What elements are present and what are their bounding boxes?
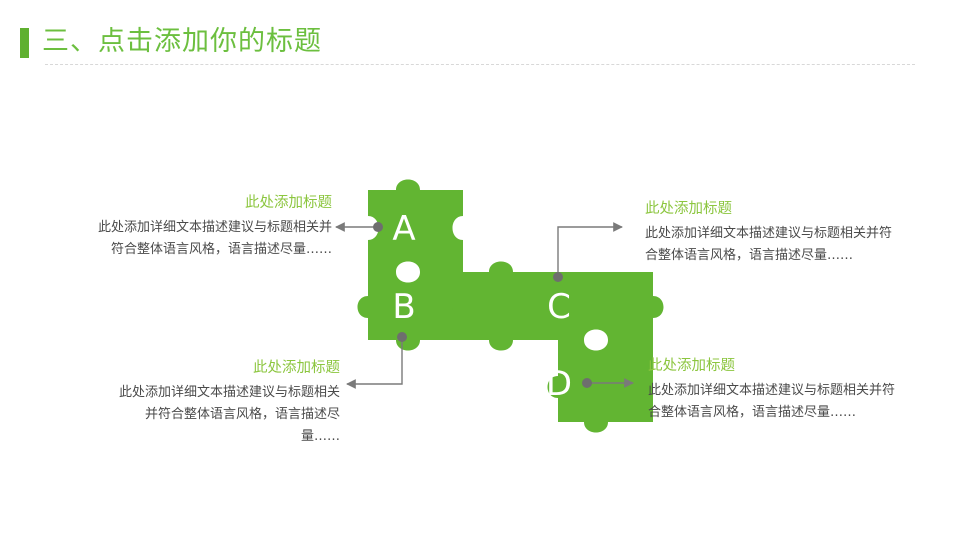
connector-dot-c — [553, 272, 563, 282]
connector-dot-b — [397, 332, 407, 342]
connector-line-c — [558, 227, 622, 277]
puzzle-label-b: B — [392, 287, 415, 327]
callout-a-body: 此处添加详细文本描述建议与标题相关并符合整体语言风格，语言描述尽量…… — [90, 217, 332, 261]
callout-c-body: 此处添加详细文本描述建议与标题相关并符合整体语言风格，语言描述尽量…… — [645, 223, 893, 267]
puzzle-label-a: A — [392, 209, 415, 249]
callout-d-body: 此处添加详细文本描述建议与标题相关并符合整体语言风格，语言描述尽量…… — [648, 380, 896, 424]
puzzle-diagram: A B C D — [0, 0, 960, 540]
callout-a-title: 此处添加标题 — [90, 192, 332, 214]
callout-d-title: 此处添加标题 — [648, 355, 896, 377]
puzzle-label-c: C — [547, 287, 571, 327]
callout-c[interactable]: 此处添加标题 此处添加详细文本描述建议与标题相关并符合整体语言风格，语言描述尽量… — [645, 198, 893, 267]
callout-a[interactable]: 此处添加标题 此处添加详细文本描述建议与标题相关并符合整体语言风格，语言描述尽量… — [90, 192, 332, 261]
slide-canvas: 三、点击添加你的标题 A B — [0, 0, 960, 540]
callout-b-body: 此处添加详细文本描述建议与标题相关并符合整体语言风格，语言描述尽量…… — [112, 382, 340, 448]
callout-c-title: 此处添加标题 — [645, 198, 893, 220]
callout-b[interactable]: 此处添加标题 此处添加详细文本描述建议与标题相关并符合整体语言风格，语言描述尽量… — [112, 357, 340, 448]
connector-line-b — [347, 337, 402, 384]
connector-dot-a — [373, 222, 383, 232]
callout-b-title: 此处添加标题 — [112, 357, 340, 379]
puzzle-label-d: D — [546, 364, 572, 404]
callout-d[interactable]: 此处添加标题 此处添加详细文本描述建议与标题相关并符合整体语言风格，语言描述尽量… — [648, 355, 896, 424]
connector-dot-d — [582, 378, 592, 388]
